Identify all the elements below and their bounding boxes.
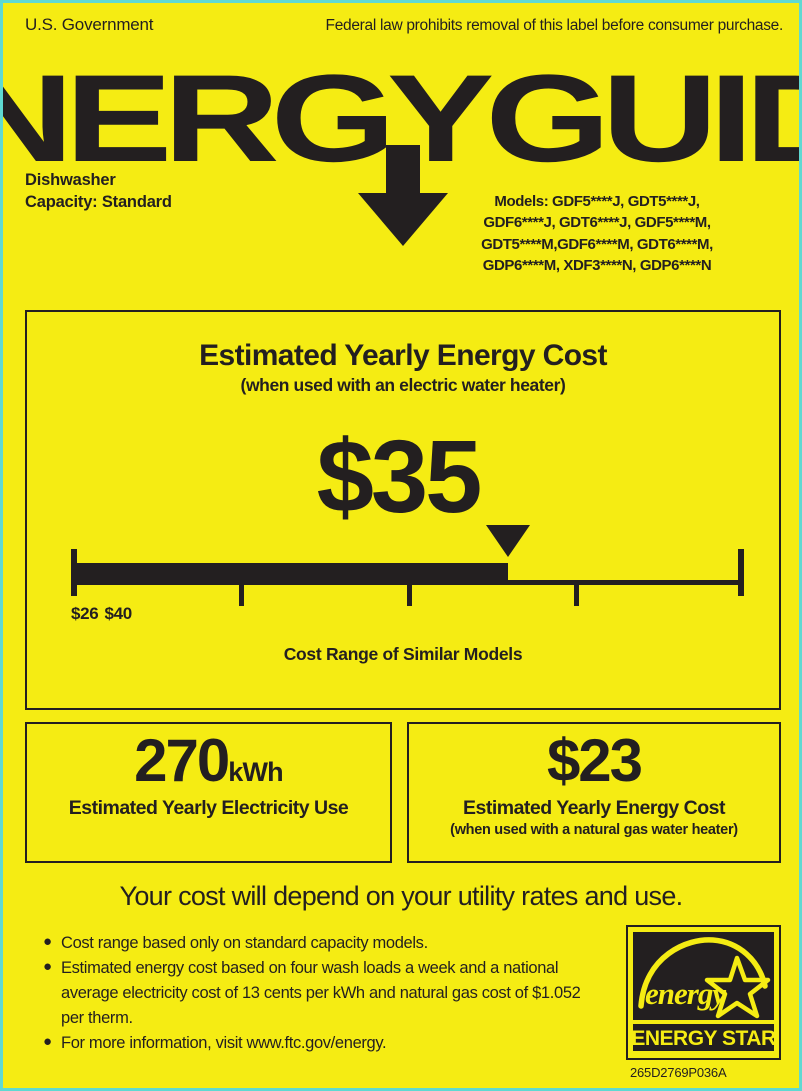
- main-panel-title: Estimated Yearly Energy Cost: [27, 339, 779, 373]
- bullet-text-2: Estimated energy cost based on four wash…: [61, 956, 603, 1031]
- appliance-capacity: Capacity: Standard: [25, 192, 172, 214]
- energy-star-mark-icon: energy ENERGY STAR: [633, 932, 774, 1053]
- scale-left-cap: [71, 549, 77, 596]
- cost-range-high: $40: [104, 604, 131, 623]
- federal-law-notice: Federal law prohibits removal of this la…: [326, 17, 783, 35]
- footer-headline: Your cost will depend on your utility ra…: [3, 881, 799, 912]
- scale-right-cap: [738, 549, 744, 596]
- yearly-electricity-use-panel: 270kWh Estimated Yearly Electricity Use: [25, 722, 392, 863]
- main-cost-value-wrap: $35: [27, 429, 779, 525]
- model-line-3: GDT5****M,GDF6****M, GDT6****M,: [427, 234, 767, 255]
- scale-tick-1: [239, 580, 244, 606]
- model-numbers: Models: GDF5****J, GDT5****J, GDF6****J,…: [427, 191, 767, 276]
- top-row: U.S. Government Federal law prohibits re…: [25, 15, 783, 35]
- bullet-dot-icon: ●: [43, 956, 61, 979]
- bullet-dot-icon: ●: [43, 931, 61, 954]
- svg-text:ENERGY STAR: ENERGY STAR: [633, 1027, 774, 1050]
- label-canvas: U.S. Government Federal law prohibits re…: [3, 3, 799, 1088]
- main-cost-value: $35: [317, 429, 480, 525]
- energyguide-label: U.S. Government Federal law prohibits re…: [0, 0, 802, 1091]
- cost-range-caption: Cost Range of Similar Models: [27, 644, 779, 665]
- cost-range-endpoints: $26$40: [71, 604, 138, 624]
- bullet-text-1: Cost range based only on standard capaci…: [61, 931, 603, 956]
- energy-star-logo: energy ENERGY STAR: [626, 925, 781, 1060]
- scale-remaining-range: [508, 580, 744, 585]
- model-line-2: GDF6****J, GDT6****J, GDF5****M,: [427, 212, 767, 233]
- electricity-caption: Estimated Yearly Electricity Use: [27, 797, 390, 820]
- model-line-4: GDP6****M, XDF3****N, GDP6****N: [427, 255, 767, 276]
- footer-bullets: ● Cost range based only on standard capa…: [43, 931, 603, 1056]
- bullet-dot-icon: ●: [43, 1031, 61, 1054]
- estimated-yearly-energy-cost-panel: Estimated Yearly Energy Cost (when used …: [25, 310, 781, 710]
- list-item: ● For more information, visit www.ftc.go…: [43, 1031, 603, 1056]
- list-item: ● Cost range based only on standard capa…: [43, 931, 603, 956]
- gas-cost-value: $23: [547, 727, 641, 794]
- scale-tick-2: [407, 580, 412, 606]
- yearly-gas-cost-panel: $23 Estimated Yearly Energy Cost (when u…: [407, 722, 781, 863]
- electricity-value: 270: [134, 727, 228, 794]
- scale-tick-3: [574, 580, 579, 606]
- gas-caption: Estimated Yearly Energy Cost: [409, 797, 779, 820]
- bullet-text-3: For more information, visit www.ftc.gov/…: [61, 1031, 603, 1056]
- cost-range-low: $26: [71, 604, 98, 623]
- cost-pointer-icon: [486, 525, 530, 557]
- main-panel-subtitle: (when used with an electric water heater…: [27, 375, 779, 396]
- scale-filled-range: [71, 563, 508, 585]
- part-number: 265D2769P036A: [630, 1065, 726, 1080]
- model-line-1: Models: GDF5****J, GDT5****J,: [427, 191, 767, 212]
- gas-subcaption: (when used with a natural gas water heat…: [409, 822, 779, 838]
- appliance-info: Dishwasher Capacity: Standard: [25, 170, 172, 214]
- appliance-type: Dishwasher: [25, 170, 172, 192]
- svg-text:energy: energy: [645, 976, 726, 1011]
- gas-value-wrap: $23: [409, 731, 779, 791]
- list-item: ● Estimated energy cost based on four wa…: [43, 956, 603, 1031]
- us-government-text: U.S. Government: [25, 15, 153, 35]
- electricity-value-wrap: 270kWh: [27, 731, 390, 791]
- electricity-unit: kWh: [228, 757, 283, 787]
